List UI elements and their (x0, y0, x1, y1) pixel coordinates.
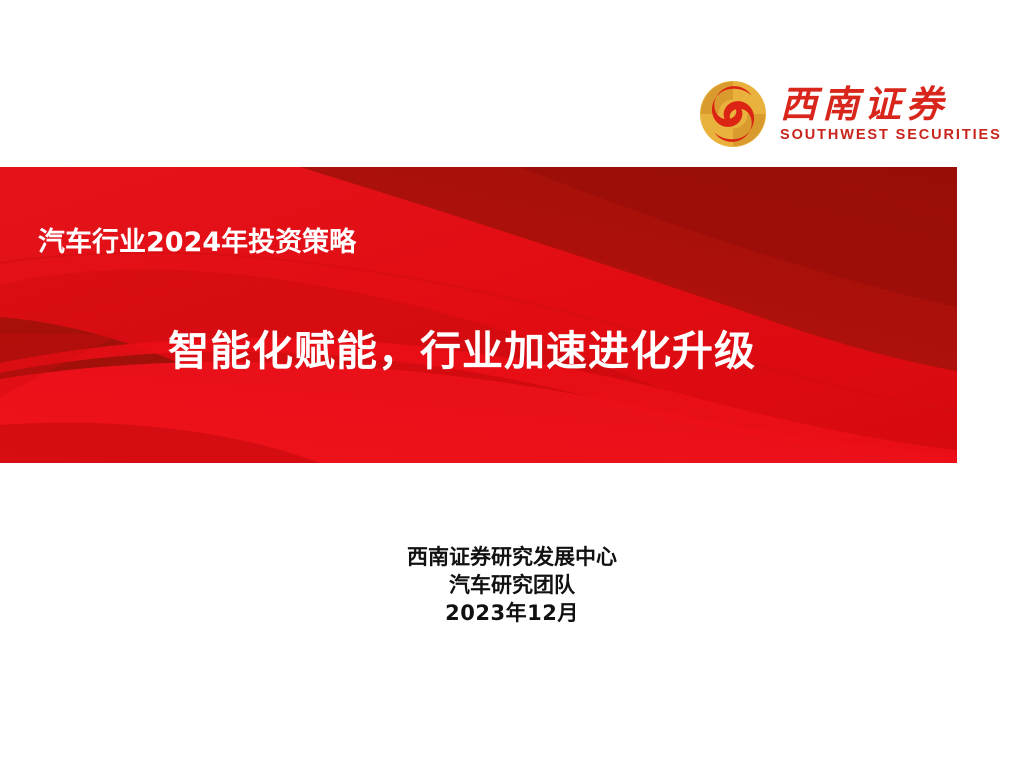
company-logo: 西南证券 SOUTHWEST SECURITIES (700, 76, 970, 152)
report-subtitle: 汽车行业2024年投资策略 (38, 220, 356, 259)
footer-block: 西南证券研究发展中心 汽车研究团队 2023年12月 (0, 543, 1024, 627)
report-main-title: 智能化赋能，行业加速进化升级 (168, 317, 756, 377)
footer-institution: 西南证券研究发展中心 (0, 543, 1024, 571)
footer-team: 汽车研究团队 (0, 571, 1024, 599)
logo-wordmark: 西南证券 SOUTHWEST SECURITIES (780, 85, 1002, 143)
footer-date: 2023年12月 (0, 599, 1024, 627)
logo-chinese-name: 西南证券 (780, 85, 1002, 124)
presentation-cover-slide: 西南证券 SOUTHWEST SECURITIES (0, 0, 1024, 768)
logo-swirl-icon (700, 81, 766, 147)
logo-english-name: SOUTHWEST SECURITIES (780, 127, 1002, 143)
banner-text-layer: 汽车行业2024年投资策略 智能化赋能，行业加速进化升级 (0, 167, 957, 463)
title-banner: 汽车行业2024年投资策略 智能化赋能，行业加速进化升级 (0, 167, 957, 463)
